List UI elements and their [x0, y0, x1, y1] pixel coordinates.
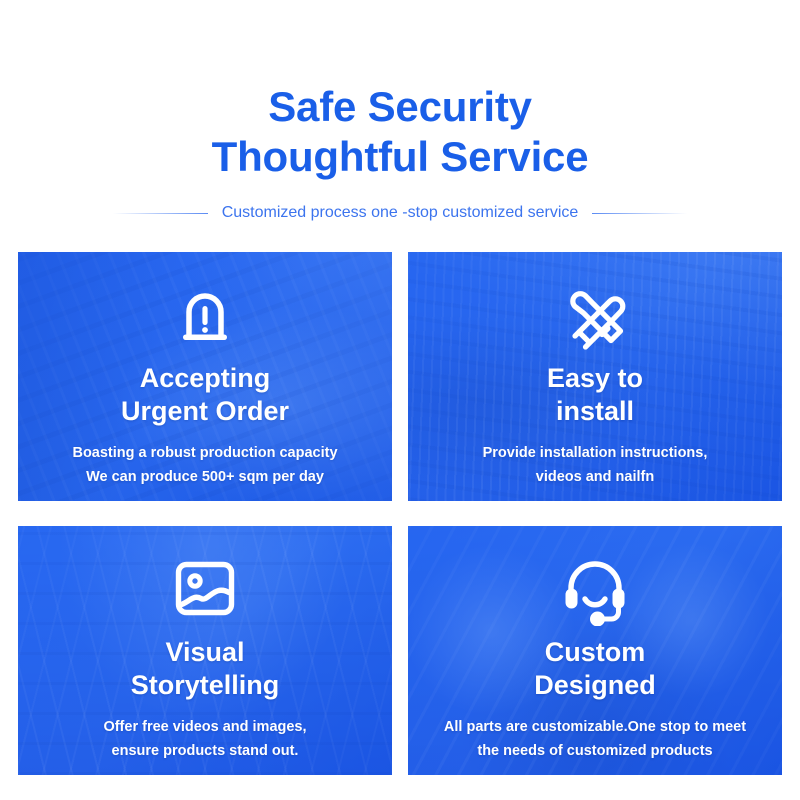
card-title-line-2: Urgent Order [121, 396, 289, 426]
card-body-line-2: ensure products stand out. [112, 743, 299, 759]
card-body-line-2: videos and nailfn [536, 469, 654, 485]
card-body-line-1: All parts are customizable.One stop to m… [444, 719, 746, 735]
card-title: Visual Storytelling [131, 636, 280, 702]
headline-line-1: Safe Security [268, 83, 532, 130]
card-description: Boasting a robust production capacity We… [58, 441, 351, 489]
card-title: Custom Designed [534, 636, 656, 702]
card-description: Provide installation instructions, video… [469, 441, 722, 489]
card-title-line-1: Visual [165, 637, 244, 667]
crossed-tools-icon [558, 278, 632, 354]
divider-line-left [113, 213, 208, 214]
card-body-line-2: the needs of customized products [477, 743, 712, 759]
feature-card-custom-designed[interactable]: Custom Designed All parts are customizab… [408, 526, 782, 775]
card-title-line-2: Storytelling [131, 670, 280, 700]
divider-line-right [592, 213, 687, 214]
feature-card-visual-storytelling[interactable]: Visual Storytelling Offer free videos an… [18, 526, 392, 775]
card-title-line-1: Easy to [547, 363, 643, 393]
card-title-line-1: Custom [545, 637, 646, 667]
card-body-line-1: Offer free videos and images, [103, 719, 306, 735]
page-title: Safe Security Thoughtful Service [0, 82, 800, 182]
card-description: Offer free videos and images, ensure pro… [89, 715, 320, 763]
card-description: All parts are customizable.One stop to m… [430, 715, 760, 763]
page-subtitle: Customized process one -stop customized … [222, 204, 579, 222]
card-title: Easy to install [547, 362, 643, 428]
header-section: Safe Security Thoughtful Service Customi… [0, 0, 800, 222]
headline-line-2: Thoughtful Service [0, 132, 800, 182]
feature-card-accepting-urgent-order[interactable]: Accepting Urgent Order Boasting a robust… [18, 252, 392, 501]
card-title-line-1: Accepting [140, 363, 271, 393]
card-title: Accepting Urgent Order [121, 362, 289, 428]
promo-banner: Safe Security Thoughtful Service Customi… [0, 0, 800, 800]
card-title-line-2: install [556, 396, 634, 426]
image-photo-icon [168, 552, 242, 628]
card-body-line-1: Boasting a robust production capacity [72, 445, 337, 461]
card-title-line-2: Designed [534, 670, 656, 700]
subtitle-row: Customized process one -stop customized … [0, 204, 800, 222]
headset-support-icon [557, 552, 633, 628]
feature-card-grid: Accepting Urgent Order Boasting a robust… [18, 252, 782, 775]
card-body-line-2: We can produce 500+ sqm per day [86, 469, 324, 485]
card-body-line-1: Provide installation instructions, [483, 445, 708, 461]
alert-dome-icon [169, 278, 241, 354]
feature-card-easy-to-install[interactable]: Easy to install Provide installation ins… [408, 252, 782, 501]
